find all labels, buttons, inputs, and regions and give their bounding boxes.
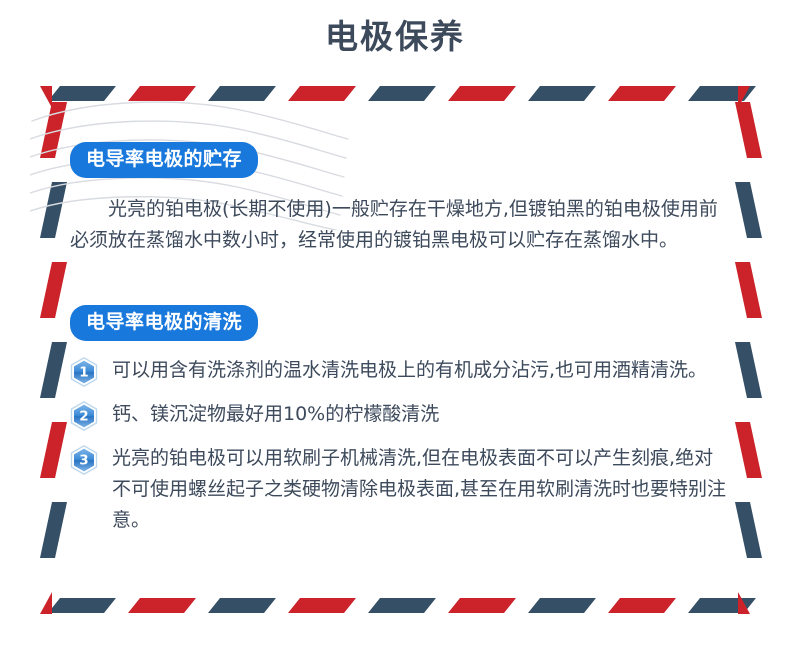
list-item-text: 可以用含有洗涤剂的温水清洗电极上的有机成分沾污,也可用酒精清洗。 <box>112 355 730 386</box>
list-item: 2 钙、镁沉淀物最好用10%的柠檬酸清洗 <box>70 399 730 431</box>
poster-page: 电极保养 电导率电极的贮存 光亮的铂电极(长期不使用) <box>0 0 790 664</box>
svg-text:1: 1 <box>79 365 88 381</box>
svg-text:2: 2 <box>79 409 88 425</box>
section-storage: 电导率电极的贮存 光亮的铂电极(长期不使用)一般贮存在干燥地方,但镀铂黑的铂电极… <box>70 142 730 256</box>
hexagon-number-icon: 3 <box>70 445 98 475</box>
list-item: 3 光亮的铂电极可以用软刷子机械清洗,但在电极表面不可以产生刻痕,绝对不可使用螺… <box>70 443 730 536</box>
cleaning-steps-list: 1 可以用含有洗涤剂的温水清洗电极上的有机成分沾污,也可用酒精清洗。 <box>70 355 730 536</box>
svg-text:3: 3 <box>79 453 88 469</box>
section-cleaning: 电导率电极的清洗 <box>70 305 730 548</box>
section-heading-cleaning: 电导率电极的清洗 <box>70 305 258 341</box>
hexagon-number-icon: 2 <box>70 401 98 431</box>
page-title: 电极保养 <box>0 14 790 60</box>
list-item: 1 可以用含有洗涤剂的温水清洗电极上的有机成分沾污,也可用酒精清洗。 <box>70 355 730 387</box>
content-area: 电导率电极的贮存 光亮的铂电极(长期不使用)一般贮存在干燥地方,但镀铂黑的铂电极… <box>0 80 790 620</box>
storage-paragraph: 光亮的铂电极(长期不使用)一般贮存在干燥地方,但镀铂黑的铂电极使用前必须放在蒸馏… <box>70 194 730 256</box>
hexagon-number-icon: 1 <box>70 357 98 387</box>
section-heading-storage: 电导率电极的贮存 <box>70 142 258 178</box>
list-item-text: 钙、镁沉淀物最好用10%的柠檬酸清洗 <box>112 399 730 430</box>
list-item-text: 光亮的铂电极可以用软刷子机械清洗,但在电极表面不可以产生刻痕,绝对不可使用螺丝起… <box>112 443 730 536</box>
